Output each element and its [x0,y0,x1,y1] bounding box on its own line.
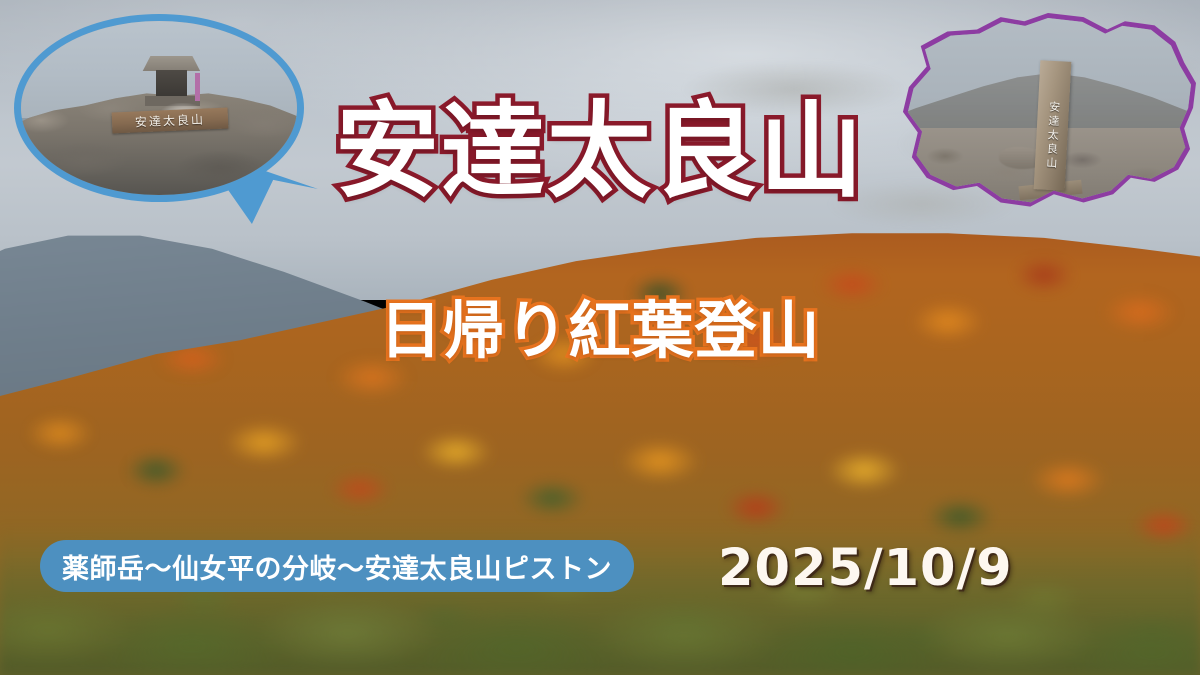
thumbnail-canvas: 安達太良山 安達太良山 安達太良山 日帰り紅葉登山 薬師岳〜仙女平の分岐〜安達太… [0,0,1200,675]
speech-bubble-left-frame: 安達太良山 [14,14,304,202]
route-caption-text: 薬師岳〜仙女平の分岐〜安達太良山ピストン [62,547,612,586]
route-caption-pill: 薬師岳〜仙女平の分岐〜安達太良山ピストン [40,540,634,592]
main-title: 安達太良山 [335,97,865,206]
summit-monument-photo: 安達太良山 [21,21,297,195]
subtitle: 日帰り紅葉登山 [379,297,820,365]
photo-summit-sign-text: 安達太良山 [135,110,206,130]
thought-bubble-right: 安達太良山 [905,18,1191,228]
date-label: 2025/10/9 [718,539,1013,598]
speech-bubble-left: 安達太良山 [14,14,304,209]
photo-marker-pole [195,73,201,101]
photo-wooden-summit-post: 安達太良山 [1033,60,1071,191]
photo-summit-post-text: 安達太良山 [1042,101,1062,172]
